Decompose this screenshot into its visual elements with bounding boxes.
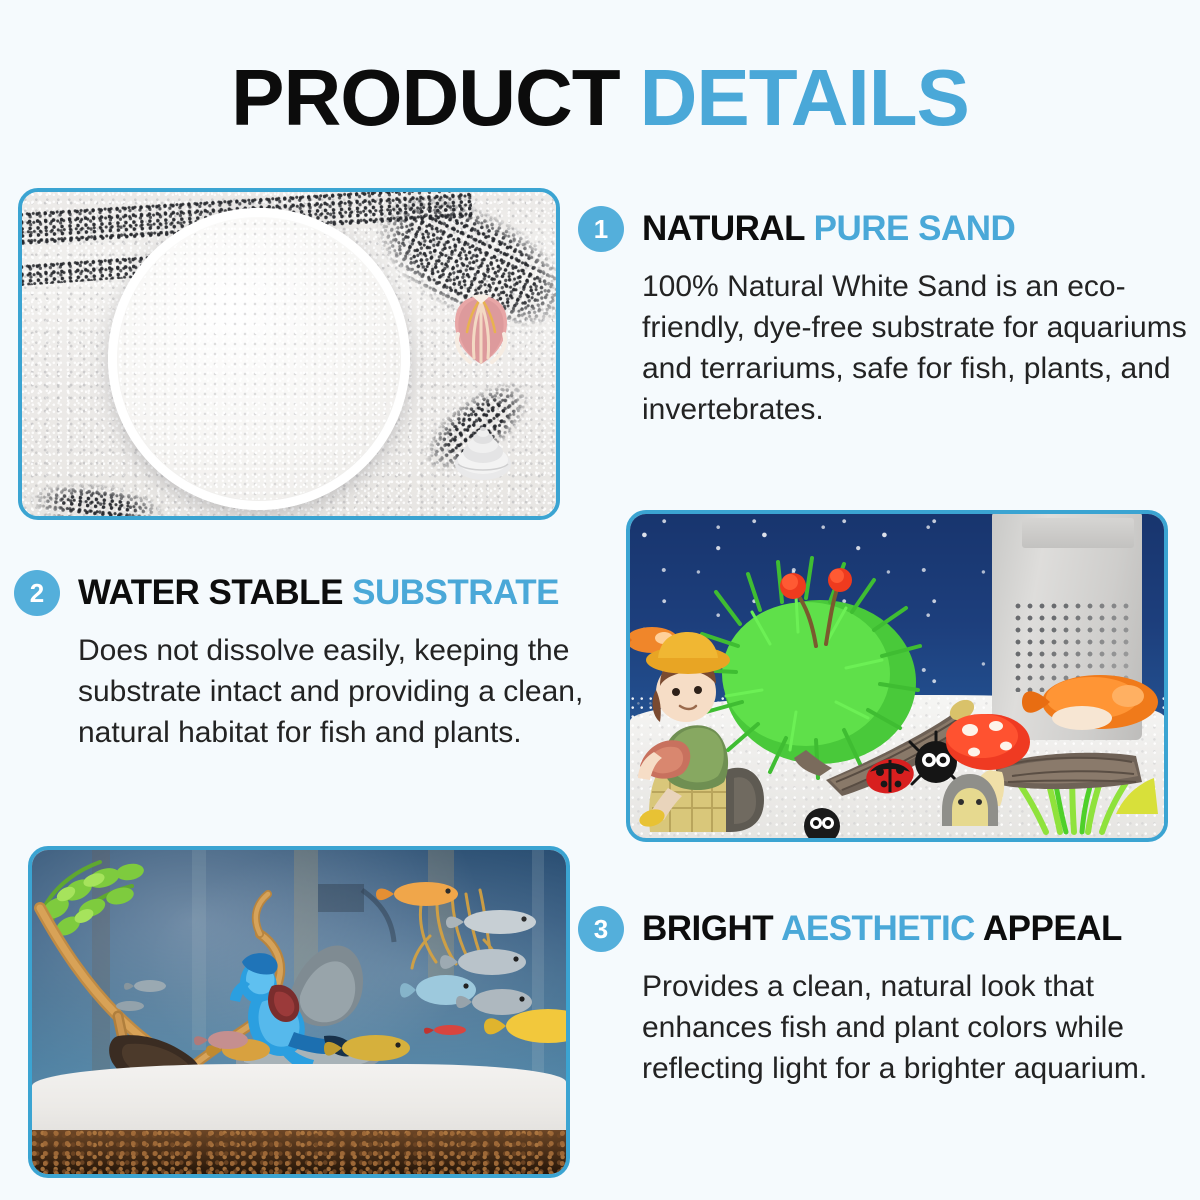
feature-3-body: Provides a clean, natural look that enha… <box>642 966 1187 1089</box>
page-title-word-details: DETAILS <box>640 53 969 142</box>
photo-planted-aquarium-inner <box>32 850 566 1174</box>
feature-3-title-blue: AESTHETIC <box>781 909 975 948</box>
feature-3: 3 BRIGHT AESTHETIC APPEAL Provides a cle… <box>578 906 1186 1089</box>
fish-orange-top <box>376 882 458 906</box>
feature-2-title-dark: WATER STABLE <box>78 573 343 612</box>
photo-white-sand-in-bowl-inner <box>22 192 556 516</box>
feature-1-title: NATURAL PURE SAND <box>642 211 1015 248</box>
scallop-shell-icon <box>450 294 512 366</box>
page-title-word-product: PRODUCT <box>231 53 620 142</box>
green-plastic-plant <box>698 558 920 778</box>
white-sand-substrate <box>32 1064 566 1140</box>
feature-1: 1 NATURAL PURE SAND 100% Natural White S… <box>578 206 1178 430</box>
feature-1-title-dark: NATURAL <box>642 209 804 248</box>
feature-1-header: 1 NATURAL PURE SAND <box>578 206 1178 252</box>
goldfish-right <box>1022 675 1158 730</box>
photo-toy-aquarium-scene <box>626 510 1168 842</box>
spiral-shell-icon <box>452 424 514 482</box>
photo-toy-aquarium-inner <box>630 514 1164 838</box>
feature-1-number-badge: 1 <box>578 206 624 252</box>
feature-2-title: WATER STABLE SUBSTRATE <box>78 575 559 612</box>
soot-sprite-in-sand <box>804 808 840 838</box>
photo-planted-aquarium-wide <box>28 846 570 1178</box>
page-title: PRODUCTDETAILS <box>0 58 1200 138</box>
sand-bowl <box>108 208 410 510</box>
feature-3-title-dark: BRIGHT <box>642 909 773 948</box>
toy-aquarium-contents <box>630 514 1164 838</box>
feature-1-title-blue: PURE SAND <box>814 209 1016 248</box>
fish-small-left <box>124 980 166 992</box>
feature-3-number-badge: 3 <box>578 906 624 952</box>
feature-2-body: Does not dissolve easily, keeping the su… <box>78 630 598 753</box>
sand-bowl-contents <box>118 218 400 500</box>
feature-3-header: 3 BRIGHT AESTHETIC APPEAL <box>578 906 1186 952</box>
feature-3-title-dark-tail: APPEAL <box>983 909 1122 948</box>
fish-silver-upper-right <box>446 910 536 934</box>
feature-2-title-blue: SUBSTRATE <box>352 573 559 612</box>
feature-2-number-badge: 2 <box>14 570 60 616</box>
feature-2: 2 WATER STABLE SUBSTRATE Does not dissol… <box>14 570 614 753</box>
fish-small-left-2 <box>116 1001 144 1011</box>
brown-gravel-layer <box>32 1130 566 1174</box>
photo-white-sand-in-bowl <box>18 188 560 520</box>
fish-red-small <box>424 1025 466 1035</box>
feature-3-title: BRIGHT AESTHETIC APPEAL <box>642 911 1122 948</box>
feature-2-header: 2 WATER STABLE SUBSTRATE <box>14 570 614 616</box>
feature-1-body: 100% Natural White Sand is an eco-friend… <box>642 266 1187 430</box>
